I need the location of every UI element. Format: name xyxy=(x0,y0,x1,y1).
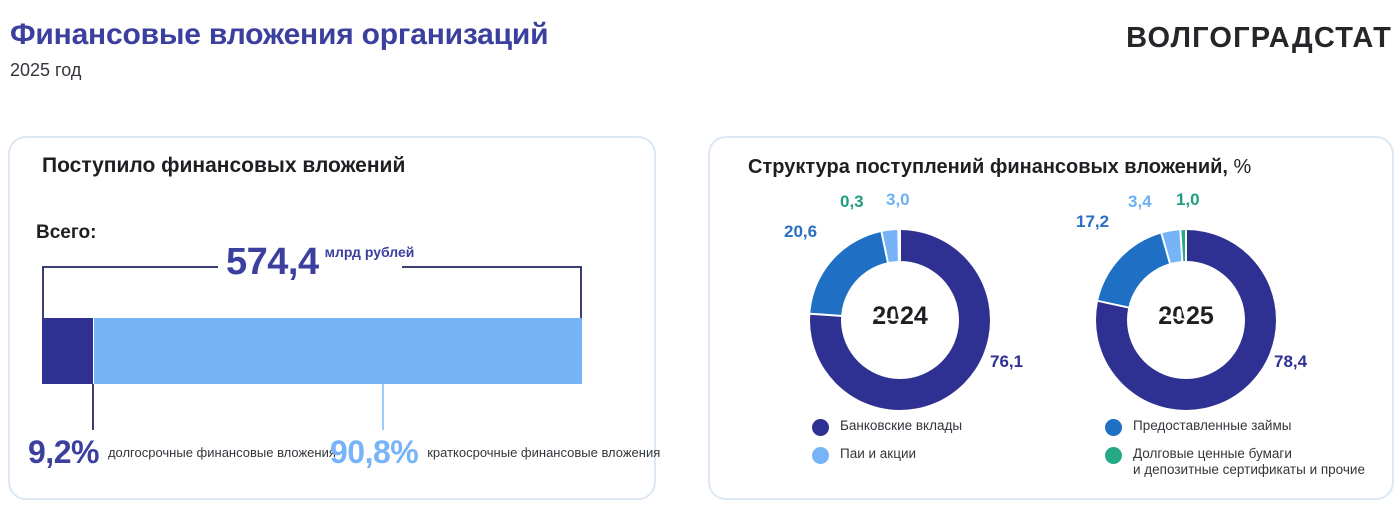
leader-line-shortterm xyxy=(382,384,384,430)
infographic-page: Финансовые вложения организаций 2025 год… xyxy=(0,0,1400,528)
legend-swatch-icon xyxy=(812,447,829,464)
bracket-left-arm xyxy=(42,266,44,318)
bracket-top-right xyxy=(402,266,582,268)
donut-2025-label-loans: 17,2 xyxy=(1076,212,1109,232)
legend-item-shares: Паи и акции xyxy=(812,446,916,464)
legend-label: Долговые ценные бумаги и депозитные серт… xyxy=(1133,446,1365,478)
callout-longterm-text: долгосрочные финансовые вложения xyxy=(108,445,336,461)
donut-slice-separator xyxy=(899,230,901,320)
total-value: 574,4 xyxy=(226,243,319,281)
legend-item-debt-securities: Долговые ценные бумаги и депозитные серт… xyxy=(1105,446,1365,478)
donut-2024-label-debt: 0,3 xyxy=(840,192,864,212)
donut-chart-2024: 2024 xyxy=(810,230,990,410)
page-subtitle: 2025 год xyxy=(10,60,81,81)
legend-swatch-icon xyxy=(812,419,829,436)
donut-2024-label-shares: 3,0 xyxy=(886,190,910,210)
legend-item-bank-deposits: Банковские вклады xyxy=(812,418,962,436)
total-label: Всего: xyxy=(36,222,96,244)
donut-2025-label-shares: 3,4 xyxy=(1128,192,1152,212)
right-card-title-unit: % xyxy=(1228,156,1251,178)
leader-line-longterm xyxy=(92,384,94,430)
donut-2025-label-bank: 78,4 xyxy=(1274,352,1307,372)
left-card-title: Поступило финансовых вложений xyxy=(42,154,405,178)
bar-segment-longterm xyxy=(42,318,93,384)
organization-logo: ВОЛГОГРАДСТАТ xyxy=(1126,22,1392,55)
legend-label: Банковские вклады xyxy=(840,418,962,434)
bar-segment-shortterm xyxy=(94,318,582,384)
page-title: Финансовые вложения организаций xyxy=(10,18,548,52)
donut-chart-2025: 2025 xyxy=(1096,230,1276,410)
legend-label: Паи и акции xyxy=(840,446,916,462)
legend-item-loans: Предоставленные займы xyxy=(1105,418,1291,436)
total-unit: млрд рублей xyxy=(325,245,415,260)
legend-swatch-icon xyxy=(1105,419,1122,436)
right-card-title: Структура поступлений финансовых вложени… xyxy=(748,156,1251,179)
donut-2024-label-bank: 76,1 xyxy=(990,352,1023,372)
bracket-right-arm xyxy=(580,266,582,318)
donut-slice-separator xyxy=(1185,230,1187,320)
legend-swatch-icon xyxy=(1105,447,1122,464)
total-value-group: 574,4 млрд рублей xyxy=(226,243,414,281)
callout-shortterm: 90,8% краткосрочные финансовые вложения xyxy=(330,436,660,468)
legend-label: Предоставленные займы xyxy=(1133,418,1291,434)
callout-shortterm-text: краткосрочные финансовые вложения xyxy=(427,445,660,461)
bracket-top-left xyxy=(42,266,218,268)
callout-longterm-value: 9,2% xyxy=(28,436,99,468)
callout-shortterm-value: 90,8% xyxy=(330,436,418,468)
right-card-title-text: Структура поступлений финансовых вложени… xyxy=(748,156,1228,178)
donut-2025-label-debt: 1,0 xyxy=(1176,190,1200,210)
callout-longterm: 9,2% долгосрочные финансовые вложения xyxy=(28,436,336,468)
donut-2024-label-loans: 20,6 xyxy=(784,222,817,242)
